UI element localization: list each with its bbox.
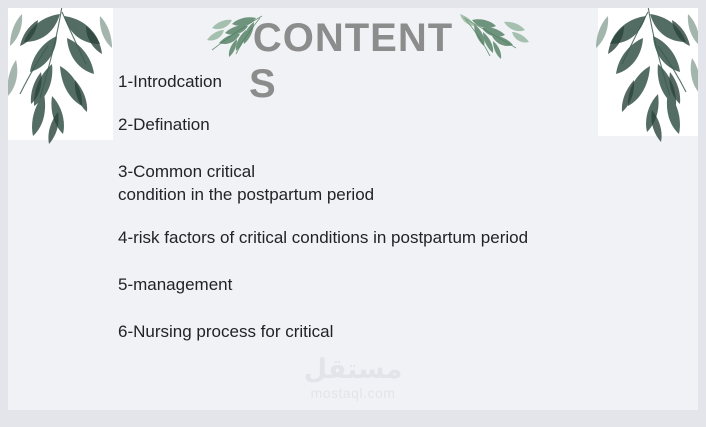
watermark: مستقل mostaql.com [8,355,698,402]
list-item: 5-management [118,273,678,296]
viewer-bottom-band [0,410,706,427]
leaf-sprig-right-icon [452,10,530,62]
slide-title: CONTENT [8,16,698,60]
watermark-url-text: mostaql.com [8,385,698,402]
slide-title-text: CONTENT [253,16,453,60]
list-item: 1-Introdcation [118,70,678,93]
list-item: 6-Nursing process for critical [118,320,678,343]
presentation-slide: CONTENT S 1-Introdcation 2-Defination 3-… [8,8,698,410]
list-item: 3-Common critical condition in the postp… [118,160,678,206]
list-item: 4-risk factors of critical conditions in… [118,226,678,249]
leaf-sprig-left-icon [204,10,266,60]
watermark-arabic-text: مستقل [8,355,698,385]
slide-viewer: CONTENT S 1-Introdcation 2-Defination 3-… [0,0,706,427]
leaf-cluster-left-icon [8,8,120,147]
list-item: 2-Defination [118,113,678,136]
content-list: 1-Introdcation 2-Defination 3-Common cri… [118,70,678,343]
corner-plate-left [8,8,113,140]
